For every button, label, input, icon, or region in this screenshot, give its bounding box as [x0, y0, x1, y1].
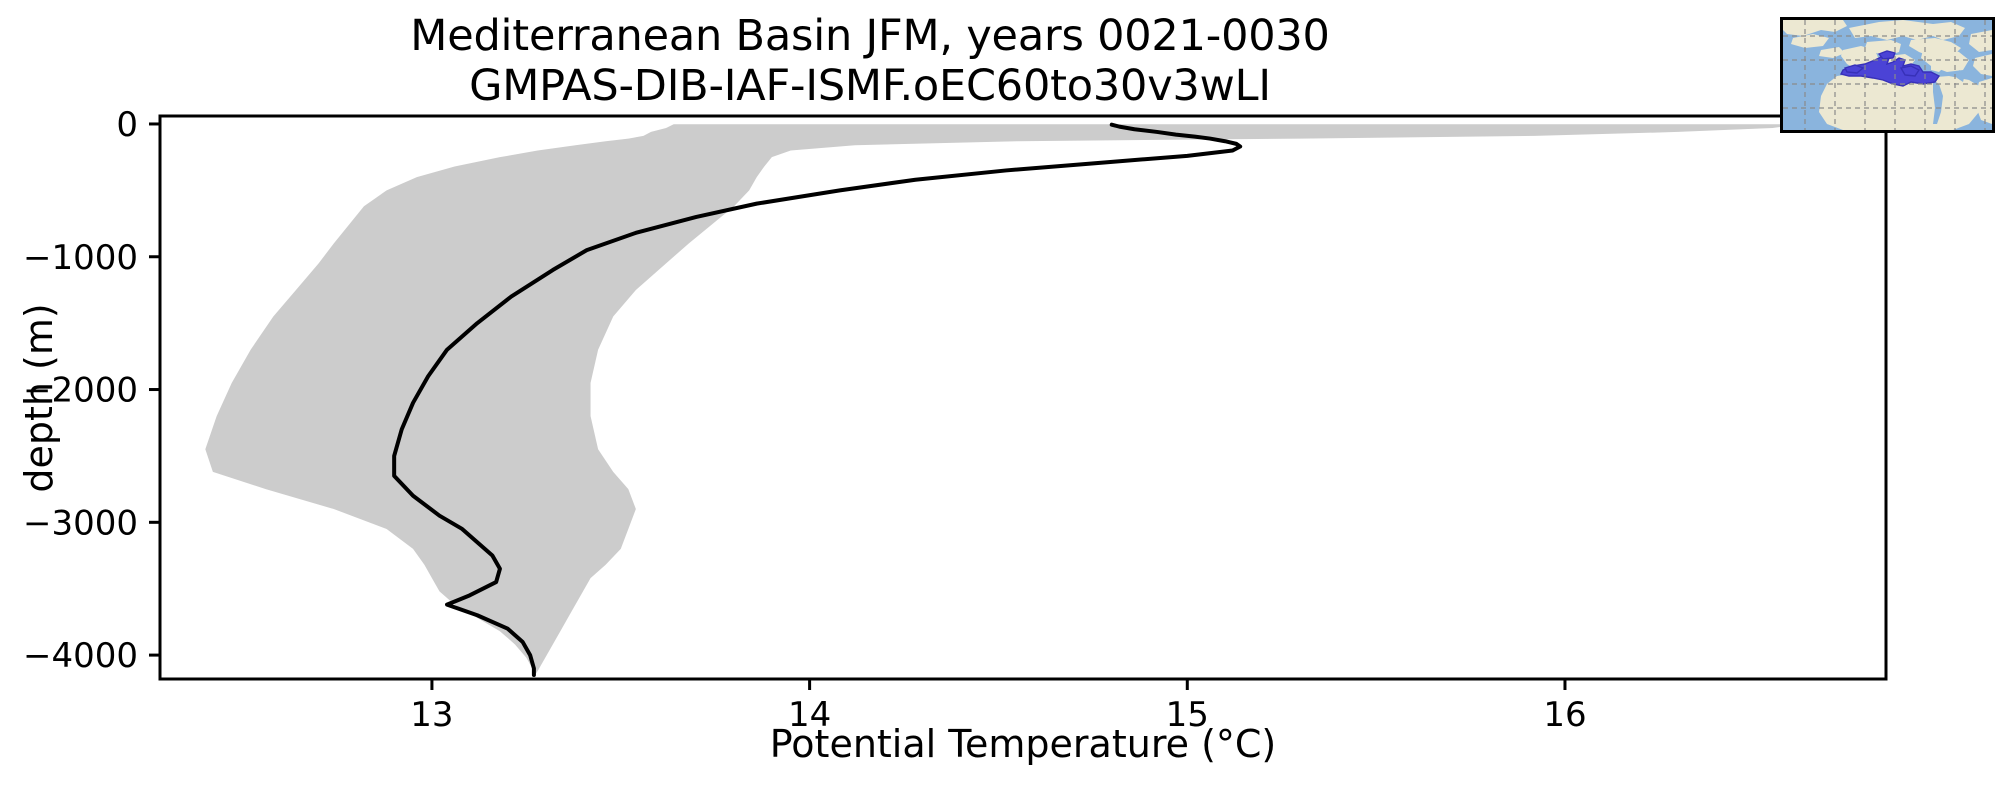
y-tick-label: 0 — [116, 105, 138, 145]
depth-profile-plot: 13141516 0−1000−2000−3000−4000 Potential… — [0, 0, 2000, 800]
y-axis-label: depth (m) — [17, 303, 61, 492]
mediterranean-basin-locator-map — [1780, 17, 1995, 133]
figure-canvas: Mediterranean Basin JFM, years 0021-0030… — [0, 0, 2000, 800]
y-tick-label: −4000 — [23, 636, 138, 676]
y-tick-label: −3000 — [23, 503, 138, 543]
x-tick-label: 16 — [1543, 695, 1586, 735]
y-tick-label: −1000 — [23, 238, 138, 278]
locator-map-graphic — [1783, 20, 1992, 130]
x-axis-label: Potential Temperature (°C) — [770, 722, 1277, 766]
x-tick-label: 13 — [410, 695, 453, 735]
